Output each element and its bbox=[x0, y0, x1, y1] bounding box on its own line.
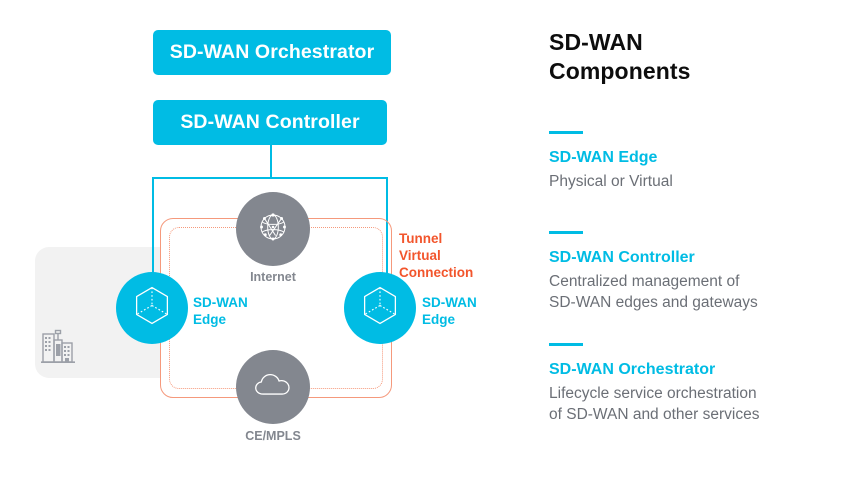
sd-wan-edge-right-node[interactable] bbox=[344, 272, 416, 344]
internet-node-caption: Internet bbox=[206, 270, 340, 284]
component-name: SD-WAN Edge bbox=[549, 148, 849, 168]
tunnel-virtual-connection-label: Tunnel Virtual Connection bbox=[399, 230, 473, 281]
components-panel: SD-WAN Components SD-WAN Edge Physical o… bbox=[549, 0, 849, 488]
cube-icon bbox=[361, 285, 399, 331]
globe-network-icon bbox=[255, 209, 291, 250]
component-description: Lifecycle service orchestration of SD-WA… bbox=[549, 383, 849, 425]
cube-icon bbox=[133, 285, 171, 331]
sd-wan-topology-diagram: SD-WAN Orchestrator SD-WAN Controller bbox=[0, 0, 520, 488]
component-name: SD-WAN Orchestrator bbox=[549, 360, 849, 380]
office-building-icon bbox=[41, 325, 75, 365]
component-entry-controller: SD-WAN Controller Centralized management… bbox=[549, 231, 849, 313]
component-description: Centralized management of SD-WAN edges a… bbox=[549, 271, 849, 313]
cloud-icon bbox=[254, 372, 292, 403]
ce-mpls-node-caption: CE/MPLS bbox=[206, 429, 340, 443]
sd-wan-orchestrator-box[interactable]: SD-WAN Orchestrator bbox=[153, 30, 391, 75]
connector-horizontal-bus bbox=[152, 177, 388, 179]
sd-wan-edge-right-label: SD-WAN Edge bbox=[422, 294, 477, 328]
component-name: SD-WAN Controller bbox=[549, 248, 849, 268]
component-entry-orchestrator: SD-WAN Orchestrator Lifecycle service or… bbox=[549, 343, 849, 425]
internet-node[interactable] bbox=[236, 192, 310, 266]
accent-rule bbox=[549, 231, 583, 234]
sd-wan-edge-left-label: SD-WAN Edge bbox=[193, 294, 248, 328]
connector-controller-down bbox=[270, 145, 272, 178]
sd-wan-components-infographic: SD-WAN Orchestrator SD-WAN Controller bbox=[0, 0, 868, 488]
component-entry-edge: SD-WAN Edge Physical or Virtual bbox=[549, 131, 849, 192]
accent-rule bbox=[549, 131, 583, 134]
accent-rule bbox=[549, 343, 583, 346]
component-description: Physical or Virtual bbox=[549, 171, 849, 192]
panel-title: SD-WAN Components bbox=[549, 28, 839, 86]
sd-wan-controller-box[interactable]: SD-WAN Controller bbox=[153, 100, 387, 145]
ce-mpls-node[interactable] bbox=[236, 350, 310, 424]
sd-wan-edge-left-node[interactable] bbox=[116, 272, 188, 344]
